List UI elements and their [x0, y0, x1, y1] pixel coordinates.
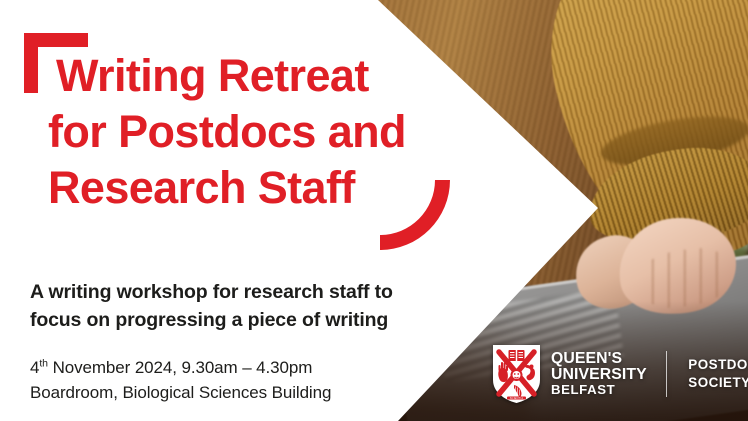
event-datetime: 4th November 2024, 9.30am – 4.30pm: [30, 356, 430, 381]
event-date-ordinal: th: [39, 357, 48, 369]
crest-motto: SCIENTIA: [507, 397, 526, 401]
crest-lion-icon: [511, 369, 523, 381]
logo-divider: [666, 351, 668, 397]
title-line-1: Writing Retreat: [56, 48, 396, 104]
page-title: Writing Retreat for Postdocs and Researc…: [56, 48, 396, 215]
subtitle: A writing workshop for research staff to…: [30, 279, 430, 334]
queens-university-belfast-crest-icon: SCIENTIA: [492, 344, 541, 404]
society-line-2: SOCIETY: [688, 374, 748, 392]
title-line-2: for Postdocs and: [48, 104, 396, 160]
event-venue: Boardroom, Biological Sciences Building: [30, 381, 430, 406]
svg-text:SCIENTIA: SCIENTIA: [510, 397, 524, 400]
title-line-3: Research Staff: [48, 160, 396, 216]
red-quarter-arc-icon: [378, 178, 452, 252]
crest-book-icon: [509, 350, 525, 361]
event-date-rest: November 2024, 9.30am – 4.30pm: [48, 358, 312, 377]
event-date-day: 4: [30, 358, 39, 377]
university-wordmark: QUEEN'S UNIVERSITY BELFAST: [551, 351, 647, 397]
wordmark-line-1: QUEEN'S: [551, 351, 647, 367]
wordmark-line-3: BELFAST: [551, 383, 647, 396]
subtitle-line-1: A writing workshop for research staff to: [30, 279, 430, 307]
poster-canvas: Writing Retreat for Postdocs and Researc…: [0, 0, 748, 421]
postdoc-society-wordmark: POSTDOC SOCIETY: [688, 356, 748, 391]
subtitle-line-2: focus on progressing a piece of writing: [30, 307, 430, 335]
wordmark-line-2: UNIVERSITY: [551, 367, 647, 383]
logo-lockup: SCIENTIA QUEEN'S UNIVERSITY BELFAST POST…: [492, 344, 748, 404]
event-details: 4th November 2024, 9.30am – 4.30pm Board…: [30, 356, 430, 406]
bracket-vertical-bar: [24, 33, 38, 93]
society-line-1: POSTDOC: [688, 356, 748, 374]
